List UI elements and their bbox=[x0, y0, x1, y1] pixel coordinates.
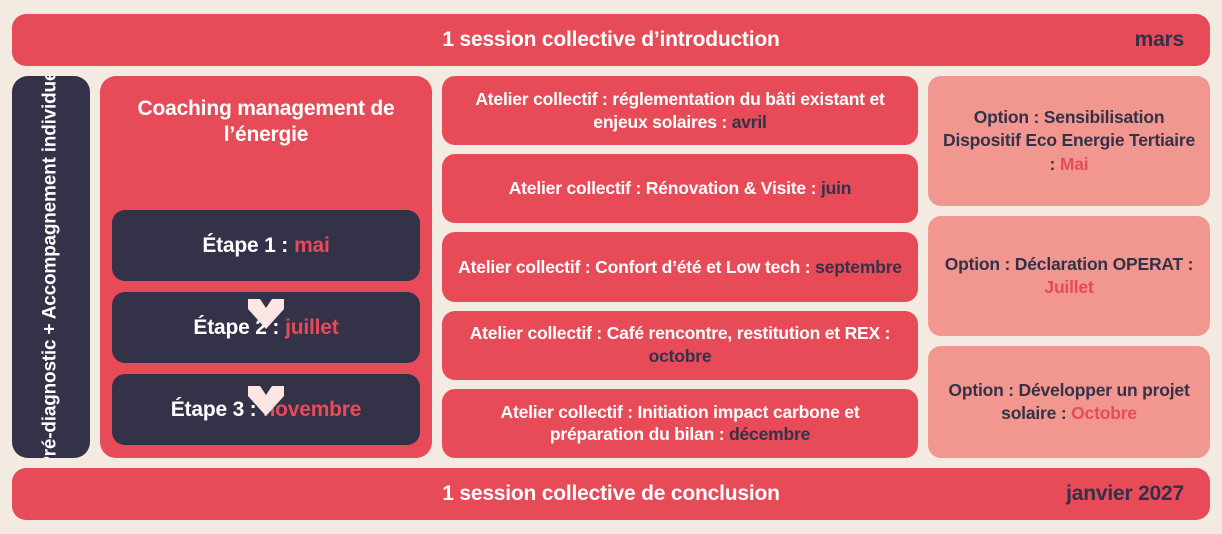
workshop-month: avril bbox=[732, 112, 767, 132]
workshop-card-text: Atelier collectif : Rénovation & Visite … bbox=[509, 177, 852, 200]
coaching-panel-title: Coaching management de l’énergie bbox=[112, 90, 420, 147]
coaching-step-3: Étape 3 : novembre bbox=[112, 374, 420, 445]
workshop-month: décembre bbox=[729, 424, 810, 444]
option-card: Option : Développer un projet solaire : … bbox=[928, 346, 1210, 458]
intro-session-banner: 1 session collective d’introduction mars bbox=[12, 14, 1210, 66]
prediagnostic-sidebar: Pré-diagnostic + Accompagnement individu… bbox=[12, 76, 90, 458]
workshop-card-text: Atelier collectif : Confort d’été et Low… bbox=[458, 256, 902, 279]
option-label: Option : Développer un projet solaire : bbox=[948, 380, 1189, 423]
workshop-month: juin bbox=[821, 178, 851, 198]
option-month: Octobre bbox=[1071, 403, 1137, 423]
timeline-infographic: 1 session collective d’introduction mars… bbox=[0, 0, 1222, 534]
workshop-card: Atelier collectif : réglementation du bâ… bbox=[442, 76, 918, 145]
option-card: Option : Déclaration OPERAT : Juillet bbox=[928, 216, 1210, 336]
option-month: Juillet bbox=[1044, 277, 1093, 297]
option-label: Option : Déclaration OPERAT : bbox=[945, 254, 1194, 274]
workshops-column: Atelier collectif : réglementation du bâ… bbox=[442, 76, 918, 458]
workshop-card-text: Atelier collectif : réglementation du bâ… bbox=[456, 88, 904, 134]
coaching-panel: Coaching management de l’énergie Étape 1… bbox=[100, 76, 432, 458]
coaching-step-2-label: Étape 2 : bbox=[193, 316, 279, 340]
workshop-card-text: Atelier collectif : Initiation impact ca… bbox=[456, 401, 904, 447]
coaching-step-3-label: Étape 3 : bbox=[171, 398, 257, 422]
workshop-card: Atelier collectif : Rénovation & Visite … bbox=[442, 154, 918, 223]
workshop-card: Atelier collectif : Initiation impact ca… bbox=[442, 389, 918, 458]
workshop-label: Atelier collectif : Café rencontre, rest… bbox=[470, 323, 891, 343]
option-card: Option : Sensibilisation Dispositif Eco … bbox=[928, 76, 1210, 206]
intro-session-month: mars bbox=[1135, 28, 1184, 52]
options-column: Option : Sensibilisation Dispositif Eco … bbox=[928, 76, 1210, 458]
option-card-text: Option : Développer un projet solaire : … bbox=[940, 379, 1198, 425]
coaching-step-2: Étape 2 : juillet bbox=[112, 292, 420, 363]
workshop-label: Atelier collectif : réglementation du bâ… bbox=[475, 89, 884, 132]
workshop-label: Atelier collectif : Confort d’été et Low… bbox=[458, 257, 810, 277]
coaching-step-2-month: juillet bbox=[285, 316, 338, 340]
workshop-card: Atelier collectif : Café rencontre, rest… bbox=[442, 311, 918, 380]
intro-session-title: 1 session collective d’introduction bbox=[442, 28, 779, 52]
conclusion-session-title: 1 session collective de conclusion bbox=[442, 482, 780, 506]
option-month: Mai bbox=[1060, 154, 1089, 174]
conclusion-session-banner: 1 session collective de conclusion janvi… bbox=[12, 468, 1210, 520]
coaching-steps-list: Étape 1 : mai Étape 2 : juillet Étape 3 … bbox=[112, 147, 420, 445]
coaching-step-1-label: Étape 1 : bbox=[202, 234, 288, 258]
coaching-step-1: Étape 1 : mai bbox=[112, 210, 420, 281]
coaching-step-3-month: novembre bbox=[262, 398, 361, 422]
conclusion-session-month: janvier 2027 bbox=[1066, 482, 1184, 506]
prediagnostic-sidebar-label: Pré-diagnostic + Accompagnement individu… bbox=[40, 76, 62, 458]
option-card-text: Option : Déclaration OPERAT : Juillet bbox=[940, 253, 1198, 299]
workshop-card: Atelier collectif : Confort d’été et Low… bbox=[442, 232, 918, 301]
workshop-month: septembre bbox=[815, 257, 902, 277]
coaching-step-1-month: mai bbox=[294, 234, 330, 258]
workshop-label: Atelier collectif : Rénovation & Visite … bbox=[509, 178, 817, 198]
middle-columns: Pré-diagnostic + Accompagnement individu… bbox=[12, 76, 1210, 458]
workshop-card-text: Atelier collectif : Café rencontre, rest… bbox=[456, 322, 904, 368]
option-card-text: Option : Sensibilisation Dispositif Eco … bbox=[940, 106, 1198, 175]
workshop-month: octobre bbox=[649, 346, 712, 366]
